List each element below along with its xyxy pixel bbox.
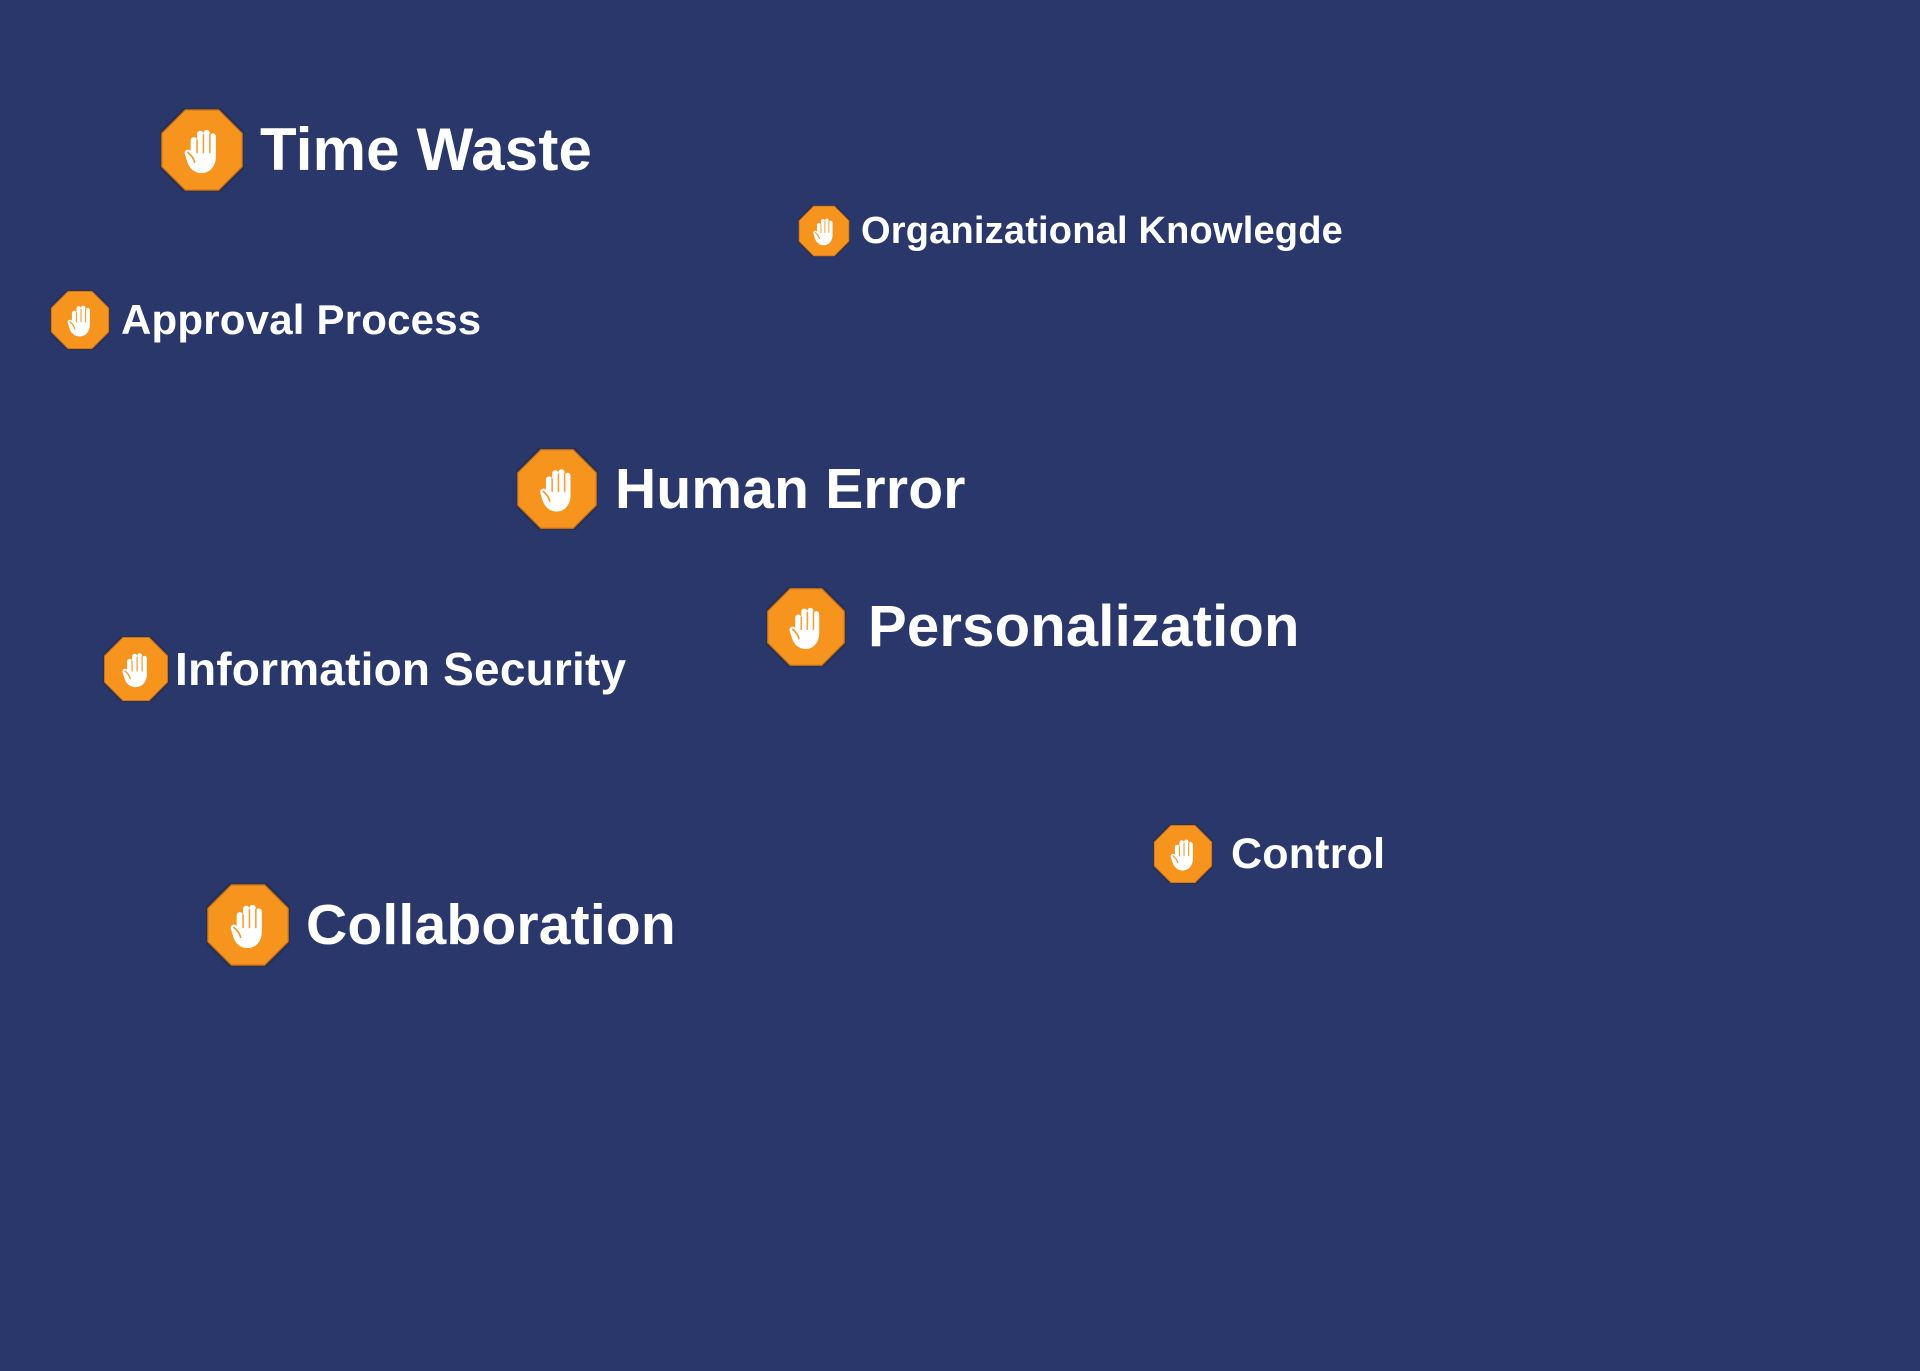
stop-hand-icon-wrapper xyxy=(1153,824,1213,884)
stop-hand-icon xyxy=(1153,824,1213,884)
cloud-item-organizational-knowlegde[interactable]: Organizational Knowlegde xyxy=(798,205,1343,257)
concept-cloud-canvas: Time Waste Organizational Knowlegde Appr xyxy=(0,0,1920,1371)
stop-hand-icon xyxy=(103,636,169,702)
cloud-item-label: Organizational Knowlegde xyxy=(861,212,1343,250)
stop-hand-icon xyxy=(766,587,846,667)
cloud-item-collaboration[interactable]: Collaboration xyxy=(206,883,676,967)
cloud-item-label: Control xyxy=(1231,833,1385,876)
stop-hand-icon-wrapper xyxy=(766,587,846,667)
cloud-item-personalization[interactable]: Personalization xyxy=(766,587,1300,667)
stop-hand-icon xyxy=(798,205,850,257)
cloud-item-label: Collaboration xyxy=(306,897,676,954)
cloud-item-information-security[interactable]: Information Security xyxy=(103,636,626,702)
stop-hand-icon-wrapper xyxy=(50,290,110,350)
stop-hand-icon-wrapper xyxy=(516,448,598,530)
cloud-item-label: Information Security xyxy=(175,646,626,692)
stop-hand-icon xyxy=(50,290,110,350)
stop-hand-icon-wrapper xyxy=(206,883,290,967)
stop-hand-icon-wrapper xyxy=(798,205,850,257)
stop-hand-icon-wrapper xyxy=(103,636,169,702)
cloud-item-human-error[interactable]: Human Error xyxy=(516,448,966,530)
stop-hand-icon xyxy=(516,448,598,530)
cloud-item-control[interactable]: Control xyxy=(1153,824,1385,884)
cloud-item-label: Human Error xyxy=(615,461,966,518)
stop-hand-icon xyxy=(160,108,244,192)
stop-hand-icon-wrapper xyxy=(160,108,244,192)
cloud-item-label: Time Waste xyxy=(260,120,592,180)
stop-hand-icon xyxy=(206,883,290,967)
cloud-item-label: Approval Process xyxy=(121,299,481,341)
cloud-item-time-waste[interactable]: Time Waste xyxy=(160,108,592,192)
cloud-item-approval-process[interactable]: Approval Process xyxy=(50,290,481,350)
cloud-item-label: Personalization xyxy=(868,598,1300,656)
